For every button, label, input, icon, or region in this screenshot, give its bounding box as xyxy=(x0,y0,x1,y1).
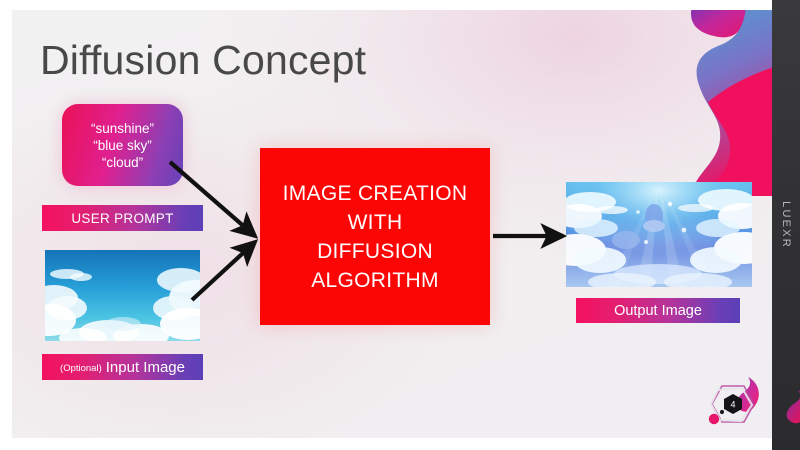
input-sky-photo xyxy=(45,250,200,341)
input-image-thumbnail xyxy=(45,250,200,341)
user-prompt-caption-label: USER PROMPT xyxy=(71,211,173,226)
brand-label: LUEXR xyxy=(780,201,792,249)
output-sky-illustration xyxy=(566,182,752,287)
prompt-line-2: “blue sky” xyxy=(93,137,152,154)
decorative-swoosh xyxy=(648,10,772,196)
slide-stage: Diffusion Concept “sunshine” “blue sky” … xyxy=(0,0,800,450)
user-prompt-box: “sunshine” “blue sky” “cloud” xyxy=(62,104,183,186)
slide-number-text: 4 xyxy=(730,399,735,409)
user-prompt-caption: USER PROMPT xyxy=(42,205,203,231)
input-image-caption: (Optional) Input Image xyxy=(42,354,203,380)
process-line-1: IMAGE CREATION xyxy=(283,179,468,208)
input-image-caption-label: Input Image xyxy=(106,359,185,376)
process-line-2: WITH xyxy=(348,208,403,237)
process-line-3: DIFFUSION xyxy=(317,237,433,266)
prompt-line-3: “cloud” xyxy=(102,154,143,171)
arrow-input-to-process xyxy=(192,242,255,300)
slide-number-badge: 4 xyxy=(704,374,766,436)
diffusion-process-box: IMAGE CREATION WITH DIFFUSION ALGORITHM xyxy=(260,148,490,325)
output-image-thumbnail xyxy=(566,182,752,287)
output-image-caption-label: Output Image xyxy=(614,303,702,319)
slide-canvas: Diffusion Concept “sunshine” “blue sky” … xyxy=(12,10,772,438)
rail-logo-icon xyxy=(772,386,800,444)
output-image-caption: Output Image xyxy=(576,298,740,323)
right-rail: LUEXR xyxy=(772,0,800,450)
prompt-line-1: “sunshine” xyxy=(91,120,154,137)
process-line-4: ALGORITHM xyxy=(311,266,439,295)
optional-tag: (Optional) xyxy=(60,363,102,374)
page-title: Diffusion Concept xyxy=(40,37,366,84)
